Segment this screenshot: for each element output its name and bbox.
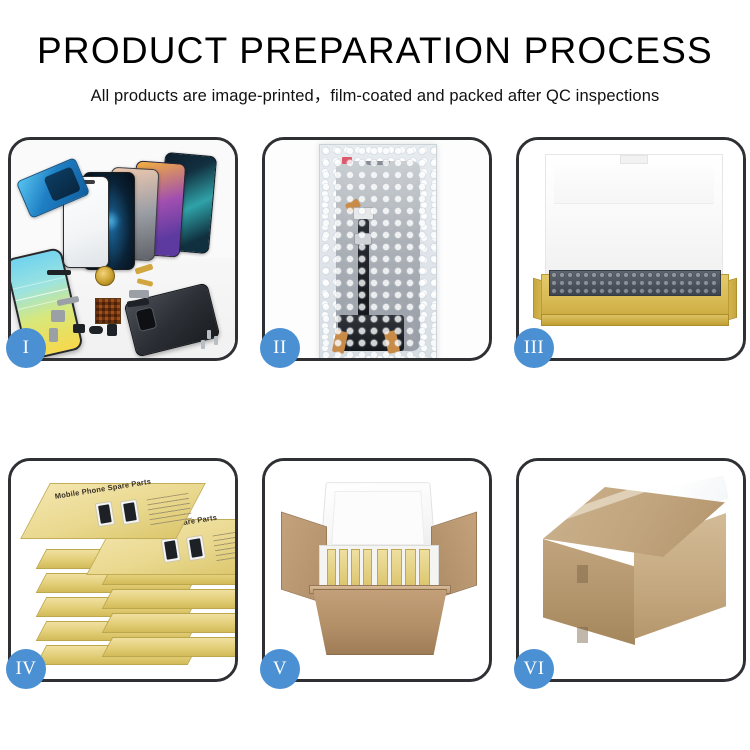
step-panel-i: I	[8, 137, 238, 361]
box-product-photo-icon	[95, 501, 116, 527]
box-label-text: Mobile Phone Spare Parts	[54, 477, 152, 501]
step-badge-iv: IV	[6, 649, 46, 689]
grey-bracket-icon	[51, 310, 65, 322]
stacked-box	[102, 613, 235, 633]
stacked-box	[102, 589, 235, 609]
contact-pad-grid-icon	[95, 298, 121, 324]
step-badge-v: V	[260, 649, 300, 689]
box-front-edge-icon	[541, 314, 729, 326]
red-tab-icon	[342, 157, 352, 164]
step-i-illustration	[11, 140, 235, 358]
sim-tray-icon	[49, 328, 58, 342]
carton-tab-icon	[577, 627, 588, 643]
step-panel-iii: III	[516, 137, 746, 361]
step-ii-illustration	[265, 140, 489, 358]
button-part-icon	[107, 324, 117, 336]
step-panel-ii: II	[262, 137, 492, 361]
product-preparation-infographic: PRODUCT PREPARATION PROCESS All products…	[0, 0, 750, 750]
charging-coil-icon	[95, 266, 115, 286]
step-panel-iv: Mobile Phone Spare Parts Mobile Phone Sp…	[8, 458, 238, 682]
bubble-wrap-pack-icon	[319, 144, 437, 358]
carton-left-face-icon	[543, 539, 635, 645]
driver-ic-icon	[354, 233, 372, 245]
step-badge-vi: VI	[514, 649, 554, 689]
box-spec-lines-icon	[213, 529, 235, 563]
screw-icon	[214, 336, 218, 345]
step-panel-v: V	[262, 458, 492, 682]
box-product-photo-icon	[120, 499, 141, 525]
printed-box-lid: Mobile Phone Spare Parts	[20, 483, 206, 539]
header: PRODUCT PREPARATION PROCESS All products…	[0, 0, 750, 106]
step-badge-ii: II	[260, 328, 300, 368]
speaker-icon	[73, 324, 85, 333]
foam-sheet-icon	[545, 154, 723, 282]
step-badge-iii: III	[514, 328, 554, 368]
box-stack-icon: Mobile Phone Spare Parts Mobile Phone Sp…	[11, 469, 235, 679]
step-vi-illustration	[519, 461, 743, 679]
box-product-photo-icon	[161, 537, 182, 563]
page-title: PRODUCT PREPARATION PROCESS	[0, 32, 750, 71]
carton-body-icon	[313, 589, 447, 655]
box-product-photo-icon	[186, 535, 207, 561]
screw-icon	[207, 330, 211, 339]
step-iv-illustration: Mobile Phone Spare Parts Mobile Phone Sp…	[11, 461, 235, 679]
step-iii-illustration	[519, 140, 743, 358]
camera-module-icon	[129, 290, 149, 298]
stacked-box	[102, 637, 235, 657]
bubble-wrapped-contents-icon	[549, 270, 721, 296]
step-badge-i: I	[6, 328, 46, 368]
page-subtitle: All products are image-printed，film-coat…	[0, 82, 750, 106]
screw-icon	[201, 340, 205, 349]
flex-cable-icon	[47, 270, 71, 275]
vibrator-icon	[89, 326, 103, 334]
step-panel-vi: VI	[516, 458, 746, 682]
carton-tab-icon	[577, 565, 588, 583]
process-steps-grid: I II	[8, 137, 742, 682]
step-v-illustration	[265, 461, 489, 679]
